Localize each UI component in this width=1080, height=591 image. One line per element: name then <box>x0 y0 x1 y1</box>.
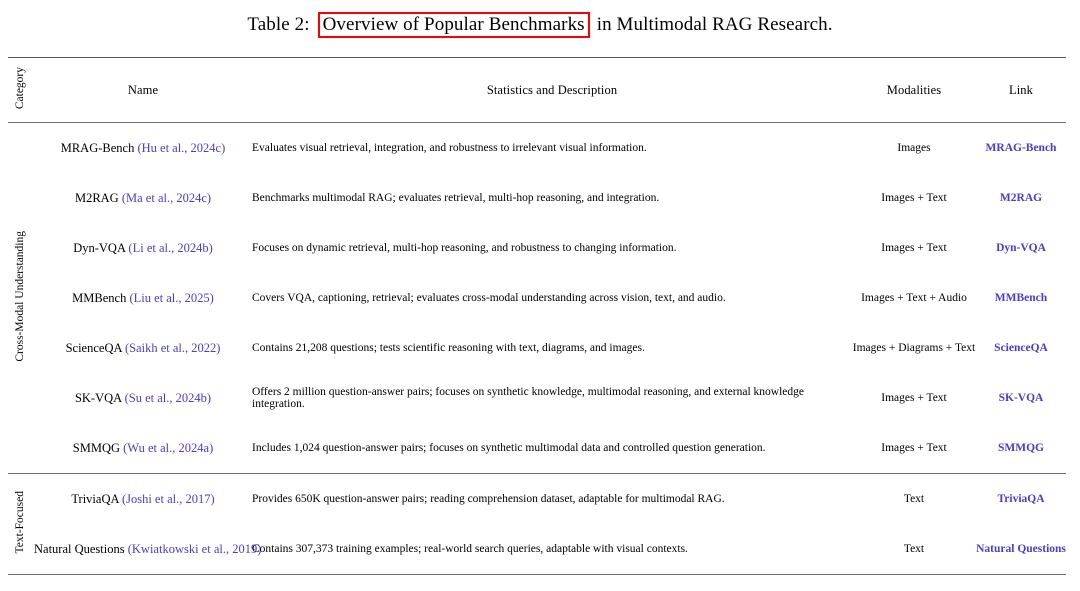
caption-suffix: in Multimodal RAG Research. <box>597 14 833 36</box>
benchmark-name-text: ScienceQA <box>66 341 122 355</box>
table-header-row: Category Name Statistics and Description… <box>8 58 1066 122</box>
benchmark-name: SMMQG (Wu et al., 2024a) <box>34 423 252 473</box>
benchmark-link[interactable]: M2RAG <box>1000 192 1042 204</box>
table-row: MMBench (Liu et al., 2025) Covers VQA, c… <box>8 273 1066 323</box>
benchmark-link-cell[interactable]: SMMQG <box>976 423 1066 473</box>
benchmark-modalities: Text <box>852 474 976 524</box>
table-bottom-rule <box>8 574 1066 575</box>
benchmark-description: Evaluates visual retrieval, integration,… <box>252 123 852 173</box>
category-label: Text-Focused <box>15 491 27 553</box>
benchmark-link[interactable]: SK-VQA <box>999 392 1044 404</box>
benchmark-citation: (Liu et al., 2025) <box>129 291 213 305</box>
benchmark-name-text: SK-VQA <box>75 391 122 405</box>
benchmark-description: Contains 21,208 questions; tests scienti… <box>252 323 852 373</box>
table-row: SK-VQA (Su et al., 2024b) Offers 2 milli… <box>8 373 1066 423</box>
benchmark-citation: (Su et al., 2024b) <box>125 391 211 405</box>
benchmark-name: M2RAG (Ma et al., 2024c) <box>34 173 252 223</box>
benchmark-link-cell[interactable]: TriviaQA <box>976 474 1066 524</box>
benchmark-link-cell[interactable]: MMBench <box>976 273 1066 323</box>
table-group-text-focused: Text-Focused TriviaQA (Joshi et al., 201… <box>8 474 1066 574</box>
benchmark-citation: (Kwiatkowski et al., 2019) <box>128 542 262 556</box>
table-row: Dyn-VQA (Li et al., 2024b) Focuses on dy… <box>8 223 1066 273</box>
benchmark-modalities: Images + Text <box>852 423 976 473</box>
benchmark-link-cell[interactable]: SK-VQA <box>976 373 1066 423</box>
table-row: Cross-Modal Understanding MRAG-Bench (Hu… <box>8 123 1066 173</box>
benchmark-modalities: Images + Text + Audio <box>852 273 976 323</box>
table-caption: Table 2: Overview of Popular Benchmarks … <box>0 0 1080 50</box>
benchmark-link[interactable]: Dyn-VQA <box>996 242 1046 254</box>
table-row: SMMQG (Wu et al., 2024a) Includes 1,024 … <box>8 423 1066 473</box>
benchmark-link-cell[interactable]: MRAG-Bench <box>976 123 1066 173</box>
benchmark-modalities: Images + Text <box>852 173 976 223</box>
benchmark-name: SK-VQA (Su et al., 2024b) <box>34 373 252 423</box>
benchmark-description: Focuses on dynamic retrieval, multi-hop … <box>252 223 852 273</box>
benchmark-citation: (Ma et al., 2024c) <box>122 191 211 205</box>
benchmark-link[interactable]: ScienceQA <box>994 342 1048 354</box>
benchmark-link[interactable]: MMBench <box>995 292 1047 304</box>
column-header-category-label: Category <box>15 67 27 109</box>
benchmark-link[interactable]: Natural Questions <box>976 543 1066 555</box>
benchmark-citation: (Joshi et al., 2017) <box>122 492 215 506</box>
table-row: Text-Focused TriviaQA (Joshi et al., 201… <box>8 474 1066 524</box>
benchmark-link-cell[interactable]: Dyn-VQA <box>976 223 1066 273</box>
benchmark-description: Contains 307,373 training examples; real… <box>252 524 852 574</box>
benchmark-name-text: TriviaQA <box>71 492 118 506</box>
column-header-modalities: Modalities <box>852 58 976 122</box>
column-header-category: Category <box>8 58 34 122</box>
benchmark-name: Dyn-VQA (Li et al., 2024b) <box>34 223 252 273</box>
benchmark-name: ScienceQA (Saikh et al., 2022) <box>34 323 252 373</box>
benchmark-name: TriviaQA (Joshi et al., 2017) <box>34 474 252 524</box>
column-header-description: Statistics and Description <box>252 58 852 122</box>
benchmark-name-text: M2RAG <box>75 191 119 205</box>
benchmark-modalities: Text <box>852 524 976 574</box>
benchmark-description: Provides 650K question-answer pairs; rea… <box>252 474 852 524</box>
benchmark-link-cell[interactable]: M2RAG <box>976 173 1066 223</box>
benchmark-description: Benchmarks multimodal RAG; evaluates ret… <box>252 173 852 223</box>
table-group-cross-modal: Cross-Modal Understanding MRAG-Bench (Hu… <box>8 123 1066 473</box>
benchmark-description: Covers VQA, captioning, retrieval; evalu… <box>252 273 852 323</box>
benchmark-description: Offers 2 million question-answer pairs; … <box>252 373 852 423</box>
column-header-link: Link <box>976 58 1066 122</box>
benchmark-link[interactable]: TriviaQA <box>997 493 1044 505</box>
caption-highlight-box: Overview of Popular Benchmarks <box>318 12 590 39</box>
benchmark-link[interactable]: MRAG-Bench <box>986 142 1057 154</box>
benchmark-citation: (Saikh et al., 2022) <box>125 341 220 355</box>
category-cell-text-focused: Text-Focused <box>8 474 34 574</box>
benchmark-name-text: MRAG-Bench <box>61 141 135 155</box>
table-row: ScienceQA (Saikh et al., 2022) Contains … <box>8 323 1066 373</box>
benchmark-citation: (Li et al., 2024b) <box>128 241 212 255</box>
benchmark-modalities: Images + Diagrams + Text <box>852 323 976 373</box>
benchmark-link[interactable]: SMMQG <box>998 442 1044 454</box>
table-row: M2RAG (Ma et al., 2024c) Benchmarks mult… <box>8 173 1066 223</box>
benchmark-name-text: Natural Questions <box>34 542 125 556</box>
benchmark-modalities: Images + Text <box>852 223 976 273</box>
benchmark-description: Includes 1,024 question-answer pairs; fo… <box>252 423 852 473</box>
benchmark-name: MRAG-Bench (Hu et al., 2024c) <box>34 123 252 173</box>
benchmark-name-text: Dyn-VQA <box>73 241 125 255</box>
benchmarks-table: Category Name Statistics and Description… <box>8 58 1066 122</box>
table-row: Natural Questions (Kwiatkowski et al., 2… <box>8 524 1066 574</box>
benchmark-name: MMBench (Liu et al., 2025) <box>34 273 252 323</box>
table-header: Category Name Statistics and Description… <box>8 58 1066 122</box>
benchmarks-table-container: Category Name Statistics and Description… <box>8 57 1066 575</box>
caption-prefix: Table 2: <box>247 14 309 36</box>
category-cell-cross-modal: Cross-Modal Understanding <box>8 123 34 473</box>
benchmark-name: Natural Questions (Kwiatkowski et al., 2… <box>34 524 252 574</box>
benchmark-name-text: MMBench <box>72 291 126 305</box>
benchmark-citation: (Wu et al., 2024a) <box>123 441 213 455</box>
benchmark-name-text: SMMQG <box>73 441 120 455</box>
benchmark-link-cell[interactable]: Natural Questions <box>976 524 1066 574</box>
benchmark-modalities: Images <box>852 123 976 173</box>
benchmark-link-cell[interactable]: ScienceQA <box>976 323 1066 373</box>
column-header-name: Name <box>34 58 252 122</box>
benchmark-citation: (Hu et al., 2024c) <box>137 141 225 155</box>
benchmark-modalities: Images + Text <box>852 373 976 423</box>
category-label: Cross-Modal Understanding <box>15 231 27 362</box>
